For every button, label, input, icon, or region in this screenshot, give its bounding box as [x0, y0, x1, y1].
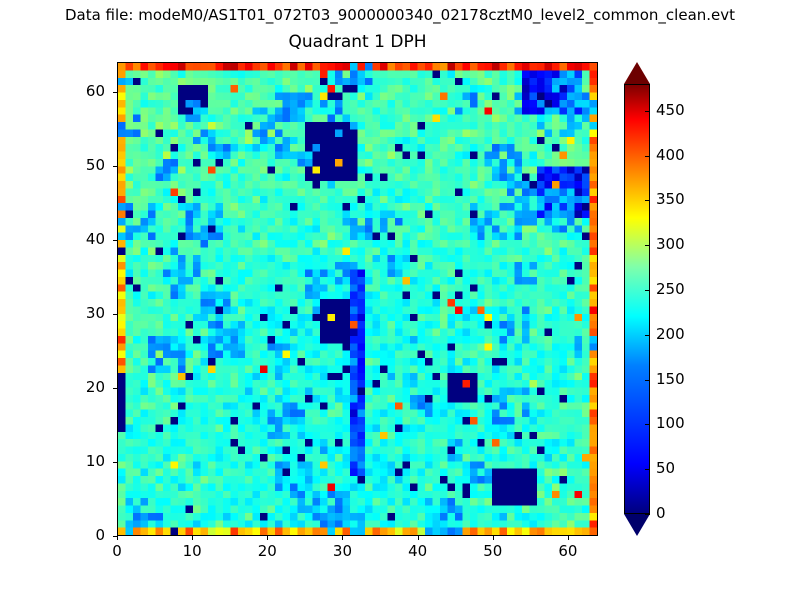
colorbar[interactable]: 050100150200250300350400450 — [624, 62, 650, 536]
colorbar-tick-mark — [645, 335, 650, 336]
x-tick-label: 60 — [548, 543, 588, 560]
colorbar-over-arrow-icon — [624, 62, 650, 84]
colorbar-tick-label: 450 — [656, 102, 685, 119]
x-tick-mark — [418, 536, 419, 540]
x-tick-mark — [493, 536, 494, 540]
colorbar-tick-mark — [645, 200, 650, 201]
colorbar-tick-mark — [645, 111, 650, 112]
x-tick-label: 30 — [322, 543, 362, 560]
y-tick-mark — [113, 314, 117, 315]
x-tick-label: 40 — [398, 543, 438, 560]
colorbar-tick-label: 50 — [656, 460, 675, 477]
colorbar-tick-label: 100 — [656, 415, 685, 432]
colorbar-under-arrow-icon — [624, 514, 650, 536]
figure-canvas: Data file: modeM0/AS1T01_072T03_90000003… — [0, 0, 800, 600]
colorbar-tick-label: 350 — [656, 191, 685, 208]
x-tick-mark — [192, 536, 193, 540]
heatmap-axes[interactable] — [117, 62, 598, 536]
y-tick-label: 20 — [65, 379, 105, 396]
x-tick-mark — [117, 536, 118, 540]
x-tick-mark — [267, 536, 268, 540]
colorbar-tick-label: 0 — [656, 505, 666, 522]
y-tick-label: 60 — [65, 83, 105, 100]
colorbar-tick-mark — [645, 156, 650, 157]
colorbar-tick-label: 400 — [656, 147, 685, 164]
colorbar-tick-label: 300 — [656, 236, 685, 253]
y-tick-mark — [113, 92, 117, 93]
colorbar-tick-label: 250 — [656, 281, 685, 298]
detector-heatmap-image[interactable] — [118, 63, 597, 535]
colorbar-tick-mark — [645, 245, 650, 246]
y-tick-label: 0 — [65, 527, 105, 544]
colorbar-tick-mark — [645, 514, 650, 515]
colorbar-tick-mark — [645, 469, 650, 470]
page-title: Quadrant 1 DPH — [117, 32, 598, 52]
y-tick-label: 40 — [65, 231, 105, 248]
y-tick-mark — [113, 388, 117, 389]
x-tick-label: 0 — [97, 543, 137, 560]
colorbar-gradient — [624, 84, 650, 514]
y-tick-mark — [113, 166, 117, 167]
colorbar-tick-mark — [645, 290, 650, 291]
y-tick-label: 30 — [65, 305, 105, 322]
x-tick-mark — [568, 536, 569, 540]
data-file-label: Data file: modeM0/AS1T01_072T03_90000003… — [0, 6, 800, 24]
x-tick-label: 20 — [247, 543, 287, 560]
x-tick-label: 10 — [172, 543, 212, 560]
y-tick-label: 10 — [65, 453, 105, 470]
colorbar-tick-mark — [645, 424, 650, 425]
y-tick-label: 50 — [65, 157, 105, 174]
y-tick-mark — [113, 240, 117, 241]
colorbar-tick-label: 150 — [656, 371, 685, 388]
x-tick-label: 50 — [473, 543, 513, 560]
colorbar-tick-mark — [645, 380, 650, 381]
x-tick-mark — [342, 536, 343, 540]
y-tick-mark — [113, 536, 117, 537]
y-tick-mark — [113, 462, 117, 463]
colorbar-tick-label: 200 — [656, 326, 685, 343]
